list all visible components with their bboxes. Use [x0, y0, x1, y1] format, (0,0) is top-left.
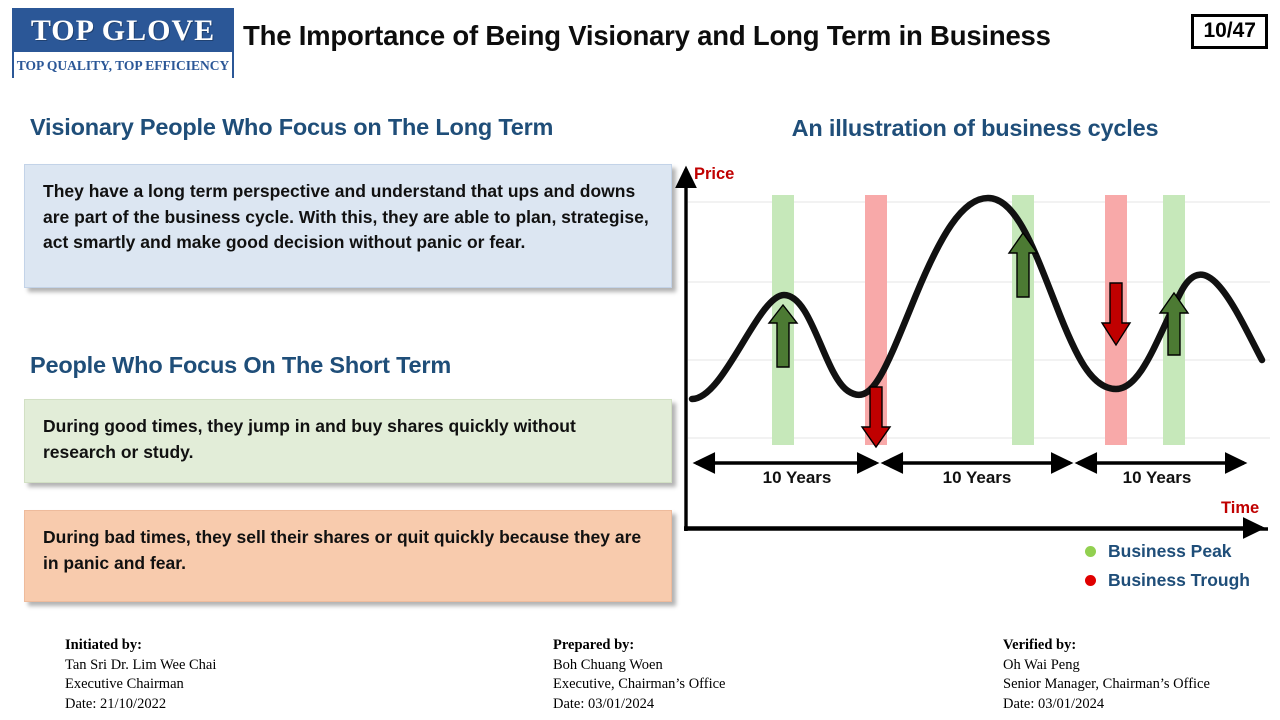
signature-role: Verified by:	[1003, 636, 1210, 656]
chart-legend: Business Peak Business Trough	[1085, 537, 1250, 595]
section-heading-short-term: People Who Focus On The Short Term	[30, 352, 451, 379]
legend-label-peak: Business Peak	[1108, 541, 1232, 562]
chart-title: An illustration of business cycles	[690, 115, 1260, 142]
page-number-badge: 10/47	[1191, 14, 1268, 49]
span-label-3: 10 Years	[1067, 468, 1247, 488]
legend-label-trough: Business Trough	[1108, 570, 1250, 591]
legend-item-peak: Business Peak	[1085, 537, 1250, 566]
top-glove-logo: TOP GLOVE TOP QUALITY, TOP EFFICIENCY	[12, 8, 234, 78]
y-axis-label: Price	[694, 165, 734, 184]
signature-block-prepared: Prepared by: Boh Chuang Woen Executive, …	[553, 636, 725, 714]
signature-position: Senior Manager, Chairman’s Office	[1003, 675, 1210, 695]
page-title: The Importance of Being Visionary and Lo…	[243, 20, 1198, 52]
callout-bad-times: During bad times, they sell their shares…	[24, 510, 672, 602]
signature-block-verified: Verified by: Oh Wai Peng Senior Manager,…	[1003, 636, 1210, 714]
logo-wordmark: TOP GLOVE	[14, 10, 232, 52]
signature-block-initiated: Initiated by: Tan Sri Dr. Lim Wee Chai E…	[65, 636, 216, 714]
legend-dot-trough-icon	[1085, 575, 1096, 586]
callout-good-times: During good times, they jump in and buy …	[24, 399, 672, 483]
signature-name: Boh Chuang Woen	[553, 656, 725, 676]
span-label-2: 10 Years	[882, 468, 1072, 488]
callout-long-term-perspective: They have a long term perspective and un…	[24, 164, 672, 288]
x-axis-label: Time	[1221, 499, 1259, 518]
signature-role: Prepared by:	[553, 636, 725, 656]
signature-date: Date: 21/10/2022	[65, 695, 216, 715]
signature-name: Oh Wai Peng	[1003, 656, 1210, 676]
signature-name: Tan Sri Dr. Lim Wee Chai	[65, 656, 216, 676]
legend-dot-peak-icon	[1085, 546, 1096, 557]
logo-tagline: TOP QUALITY, TOP EFFICIENCY	[14, 52, 232, 78]
signature-position: Executive, Chairman’s Office	[553, 675, 725, 695]
span-label-1: 10 Years	[707, 468, 887, 488]
slide-canvas: TOP GLOVE TOP QUALITY, TOP EFFICIENCY Th…	[0, 0, 1280, 720]
legend-item-trough: Business Trough	[1085, 566, 1250, 595]
signature-date: Date: 03/01/2024	[1003, 695, 1210, 715]
chart-marker-bands	[772, 195, 1185, 445]
signature-role: Initiated by:	[65, 636, 216, 656]
section-heading-long-term: Visionary People Who Focus on The Long T…	[30, 114, 553, 141]
signature-date: Date: 03/01/2024	[553, 695, 725, 715]
signature-position: Executive Chairman	[65, 675, 216, 695]
business-cycle-chart: Price Time 10 Years 10 Years 10 Years	[672, 155, 1272, 545]
